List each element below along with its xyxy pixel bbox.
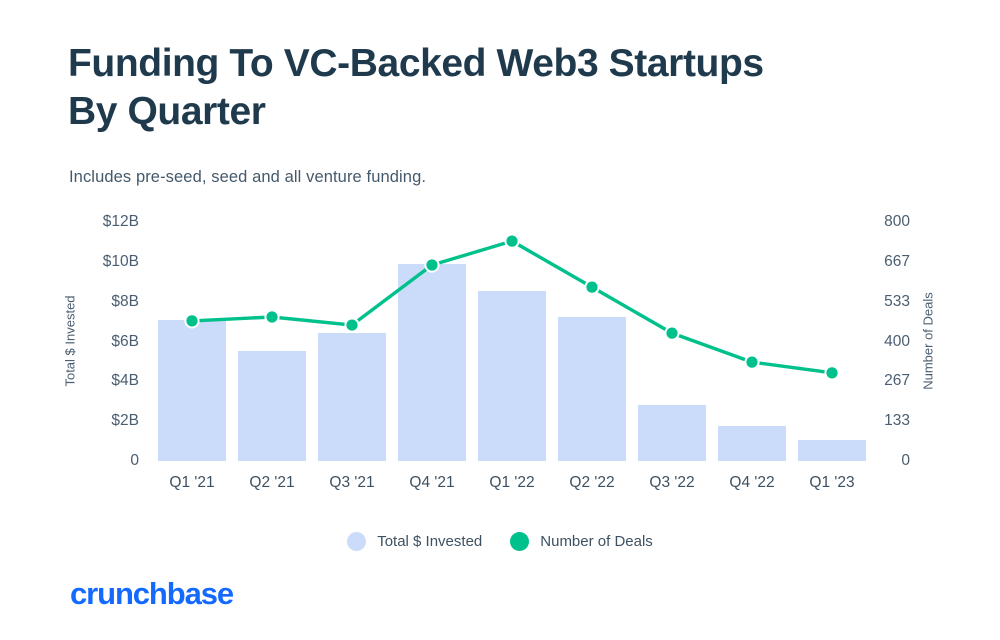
data-point-marker[interactable] bbox=[186, 315, 197, 326]
x-axis-tick-label: Q4 '22 bbox=[729, 474, 774, 492]
x-axis-tick-label: Q1 '21 bbox=[169, 474, 214, 492]
legend-item-number-of-deals[interactable]: Number of Deals bbox=[510, 532, 653, 551]
data-point-marker[interactable] bbox=[826, 367, 837, 378]
y-axis-right-tick-label: 0 bbox=[874, 452, 910, 470]
data-point-marker[interactable] bbox=[666, 328, 677, 339]
chart-page: Funding To VC-Backed Web3 Startups By Qu… bbox=[0, 0, 1000, 640]
data-point-marker[interactable] bbox=[746, 357, 757, 368]
crunchbase-logo: crunchbase bbox=[70, 576, 233, 612]
legend-item-total-invested[interactable]: Total $ Invested bbox=[347, 532, 482, 551]
y-axis-left-tick-label: $2B bbox=[0, 412, 139, 430]
y-axis-right-tick-label: 800 bbox=[874, 213, 910, 231]
page-title: Funding To VC-Backed Web3 Startups By Qu… bbox=[68, 40, 908, 135]
x-axis-tick-label: Q1 '22 bbox=[489, 474, 534, 492]
y-axis-right-tick-label: 667 bbox=[874, 253, 910, 271]
y-axis-right-tick-label: 400 bbox=[874, 333, 910, 351]
x-axis-tick-label: Q3 '22 bbox=[649, 474, 694, 492]
y-axis-left-tick-label: $4B bbox=[0, 372, 139, 390]
chart-legend: Total $ Invested Number of Deals bbox=[0, 532, 1000, 551]
plot-area bbox=[152, 222, 872, 461]
y-axis-right-tick-label: 133 bbox=[874, 412, 910, 430]
data-point-marker[interactable] bbox=[506, 236, 517, 247]
line-series-layer bbox=[152, 222, 872, 461]
y-axis-left-tick-label: $8B bbox=[0, 293, 139, 311]
legend-item-label: Total $ Invested bbox=[377, 533, 482, 550]
y-axis-left-tick-label: $10B bbox=[0, 253, 139, 271]
line-path bbox=[192, 241, 832, 373]
x-axis-tick-label: Q4 '21 bbox=[409, 474, 454, 492]
x-axis-tick-label: Q1 '23 bbox=[809, 474, 854, 492]
y-axis-right-tick-label: 267 bbox=[874, 372, 910, 390]
data-point-marker[interactable] bbox=[586, 282, 597, 293]
legend-swatch-icon bbox=[347, 532, 366, 551]
y-axis-left-tick-label: $6B bbox=[0, 333, 139, 351]
x-axis-tick-label: Q2 '22 bbox=[569, 474, 614, 492]
x-axis-tick-label: Q3 '21 bbox=[329, 474, 374, 492]
legend-item-label: Number of Deals bbox=[540, 533, 653, 550]
y-axis-left-tick-label: 0 bbox=[0, 452, 139, 470]
data-point-marker[interactable] bbox=[266, 311, 277, 322]
chart-subtitle: Includes pre-seed, seed and all venture … bbox=[69, 168, 426, 187]
y-axis-left-tick-label: $12B bbox=[0, 213, 139, 231]
data-point-marker[interactable] bbox=[426, 259, 437, 270]
data-point-marker[interactable] bbox=[346, 319, 357, 330]
x-axis-tick-label: Q2 '21 bbox=[249, 474, 294, 492]
y-axis-right-title: Number of Deals bbox=[921, 292, 936, 390]
legend-swatch-icon bbox=[510, 532, 529, 551]
y-axis-right-tick-label: 533 bbox=[874, 293, 910, 311]
